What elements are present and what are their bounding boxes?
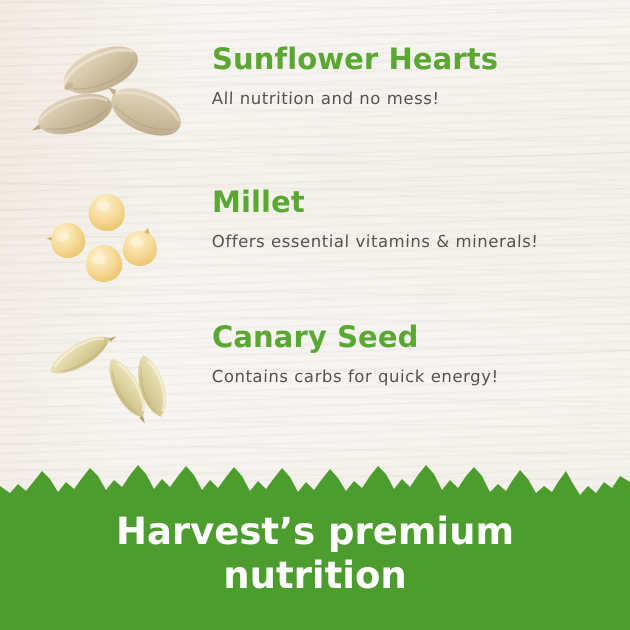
sunflower-hearts-photo	[28, 42, 198, 172]
sunflower-hearts-subtitle: All nutrition and no mess!	[212, 76, 613, 108]
canary-seed-text-block: Canary Seed Contains carbs for quick ene…	[212, 320, 612, 386]
green-banner: Harvest’s premium nutrition	[0, 462, 630, 630]
banner-headline: Harvest’s premium nutrition	[0, 510, 630, 598]
canary-seed-title: Canary Seed	[212, 320, 612, 354]
millet-title: Millet	[212, 185, 612, 219]
sunflower-hearts-title: Sunflower Hearts	[212, 42, 612, 76]
millet-subtitle: Offers essential vitamins & minerals!	[212, 219, 613, 251]
millet-photo	[28, 185, 198, 315]
seed-infographic-poster: Sunflower Hearts All nutrition and no me…	[0, 0, 630, 630]
millet-text-block: Millet Offers essential vitamins & miner…	[212, 185, 612, 251]
sunflower-hearts-text-block: Sunflower Hearts All nutrition and no me…	[212, 42, 612, 108]
canary-seed-subtitle: Contains carbs for quick energy!	[212, 354, 613, 386]
canary-seed-photo	[28, 320, 198, 450]
banner-headline-line2: nutrition	[223, 554, 406, 597]
banner-headline-line1: Harvest’s premium	[116, 510, 514, 553]
